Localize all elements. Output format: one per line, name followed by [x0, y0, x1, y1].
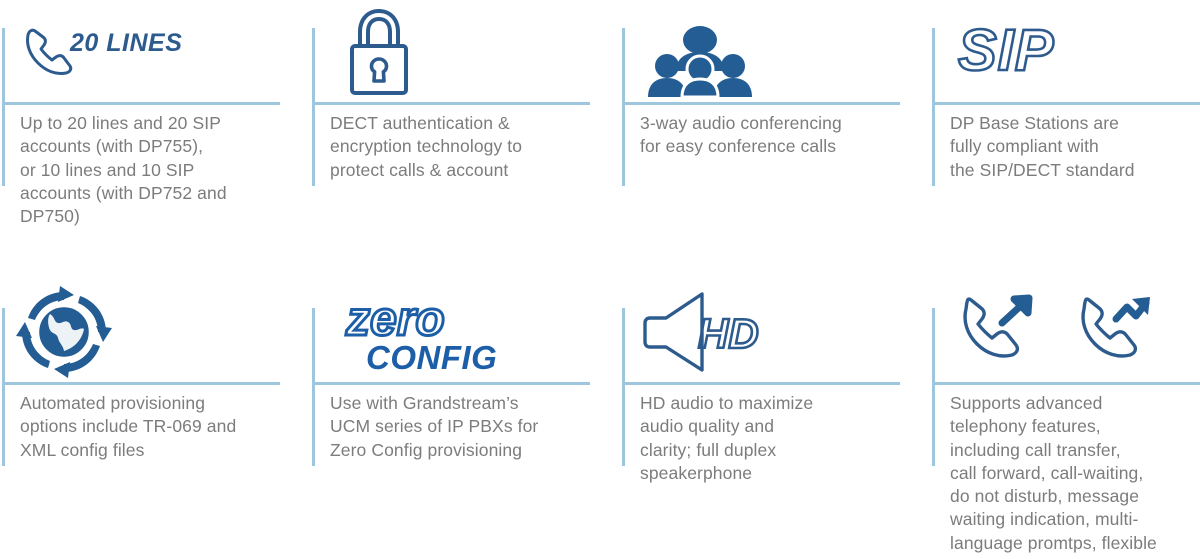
sip-logo-icon: SIP — [954, 12, 1104, 86]
card-horizontal-rule — [2, 102, 280, 105]
feature-description: DP Base Stations are fully compliant wit… — [950, 112, 1200, 182]
card-vertical-rule — [932, 28, 935, 186]
feature-card-provisioning: Automated provisioning options include T… — [0, 280, 310, 559]
call-transfer-forward-icons — [954, 293, 1164, 373]
hd-speaker-icon: HD — [640, 288, 780, 374]
feature-description: HD audio to maximize audio quality and c… — [640, 392, 908, 485]
call-transfer-icon — [965, 298, 1029, 356]
feature-card-sip-standard: SIP DP Base Stations are fully compliant… — [930, 0, 1200, 279]
card-horizontal-rule — [622, 102, 900, 105]
padlock-icon — [340, 6, 418, 98]
globe-refresh-icon — [14, 284, 114, 380]
card-horizontal-rule — [312, 382, 590, 385]
card-vertical-rule — [622, 308, 625, 466]
icon-label: SIP — [958, 18, 1055, 83]
card-vertical-rule — [932, 308, 935, 466]
feature-card-twenty-lines: 20 LINES Up to 20 lines and 20 SIP accou… — [0, 0, 310, 279]
card-vertical-rule — [312, 28, 315, 186]
icon-label: 20 LINES — [69, 29, 182, 57]
icon-area: zero CONFIG — [324, 284, 608, 380]
icon-label: HD — [698, 310, 759, 357]
icon-area: 20 LINES — [14, 4, 298, 100]
icon-area — [634, 4, 918, 100]
call-forward-icon — [1083, 297, 1150, 356]
phone-handset-20-lines-icon: 20 LINES — [14, 21, 164, 83]
feature-description: Automated provisioning options include T… — [20, 392, 288, 462]
zero-config-logo-icon: zero CONFIG — [344, 291, 484, 377]
three-people-conference-icon — [644, 25, 756, 97]
card-vertical-rule — [312, 308, 315, 466]
card-vertical-rule — [622, 28, 625, 186]
feature-description: Use with Grandstream’s UCM series of IP … — [330, 392, 598, 462]
feature-grid: 20 LINES Up to 20 lines and 20 SIP accou… — [0, 0, 1200, 559]
feature-card-conferencing: 3-way audio conferencing for easy confer… — [620, 0, 930, 279]
icon-area: HD — [634, 284, 918, 380]
icon-area — [944, 284, 1200, 380]
icon-area — [14, 284, 298, 380]
feature-description: Up to 20 lines and 20 SIP accounts (with… — [20, 112, 288, 228]
feature-card-dect-security: DECT authentication & encryption technol… — [310, 0, 620, 279]
card-horizontal-rule — [622, 382, 900, 385]
feature-card-telephony-features: Supports advanced telephony features, in… — [930, 280, 1200, 559]
card-vertical-rule — [2, 308, 5, 466]
card-horizontal-rule — [932, 382, 1200, 385]
icon-area: SIP — [944, 4, 1200, 100]
card-horizontal-rule — [312, 102, 590, 105]
icon-area — [324, 4, 608, 100]
card-horizontal-rule — [2, 382, 280, 385]
feature-card-zero-config: zero CONFIG Use with Grandstream’s UCM s… — [310, 280, 620, 559]
feature-description: Supports advanced telephony features, in… — [950, 392, 1200, 559]
feature-card-hd-audio: HD HD audio to maximize audio quality an… — [620, 280, 930, 559]
feature-description: DECT authentication & encryption technol… — [330, 112, 598, 182]
icon-label-secondary: CONFIG — [366, 339, 497, 376]
card-horizontal-rule — [932, 102, 1200, 105]
card-vertical-rule — [2, 28, 5, 186]
feature-description: 3-way audio conferencing for easy confer… — [640, 112, 908, 159]
